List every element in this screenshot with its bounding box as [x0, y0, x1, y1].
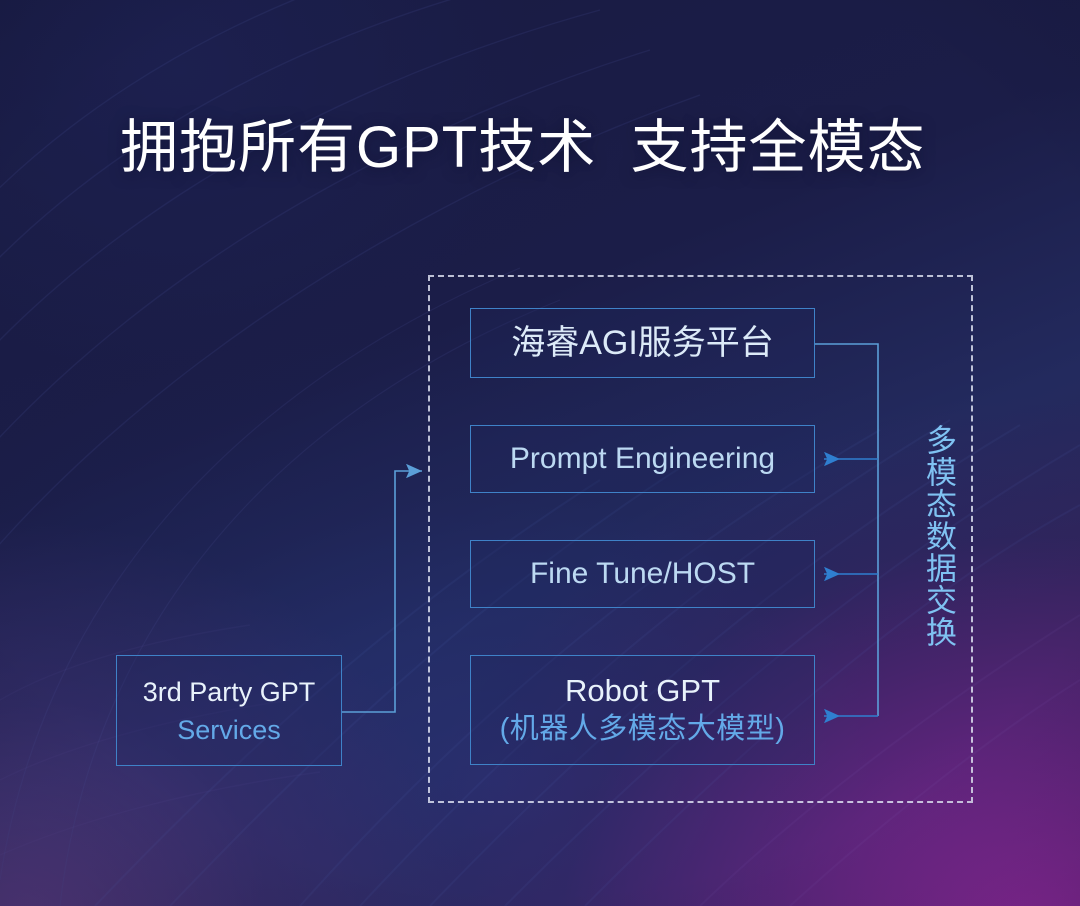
node-robot-gpt-subtitle: (机器人多模态大模型) — [500, 710, 786, 748]
node-robot-gpt[interactable]: Robot GPT (机器人多模态大模型) — [470, 655, 815, 765]
node-third-party-gpt-services[interactable]: 3rd Party GPT Services — [116, 655, 342, 766]
node-third-party-gpt-subtitle: Services — [177, 711, 281, 749]
slide-canvas: 拥抱所有GPT技术 支持全模态 海睿AGI服务平台 Prompt Eng — [0, 0, 1080, 906]
node-agi-platform[interactable]: 海睿AGI服务平台 — [470, 308, 815, 378]
node-prompt-engineering-label: Prompt Engineering — [510, 440, 775, 478]
node-fine-tune-host-label: Fine Tune/HOST — [530, 555, 755, 593]
node-robot-gpt-title: Robot GPT — [565, 672, 720, 710]
node-agi-platform-label: 海睿AGI服务平台 — [511, 322, 774, 364]
node-third-party-gpt-title: 3rd Party GPT — [143, 673, 316, 711]
node-prompt-engineering[interactable]: Prompt Engineering — [470, 425, 815, 493]
multimodal-data-exchange-label: 多模态数据交换 — [916, 424, 954, 648]
page-title: 拥抱所有GPT技术 支持全模态 — [120, 112, 925, 184]
node-fine-tune-host[interactable]: Fine Tune/HOST — [470, 540, 815, 608]
